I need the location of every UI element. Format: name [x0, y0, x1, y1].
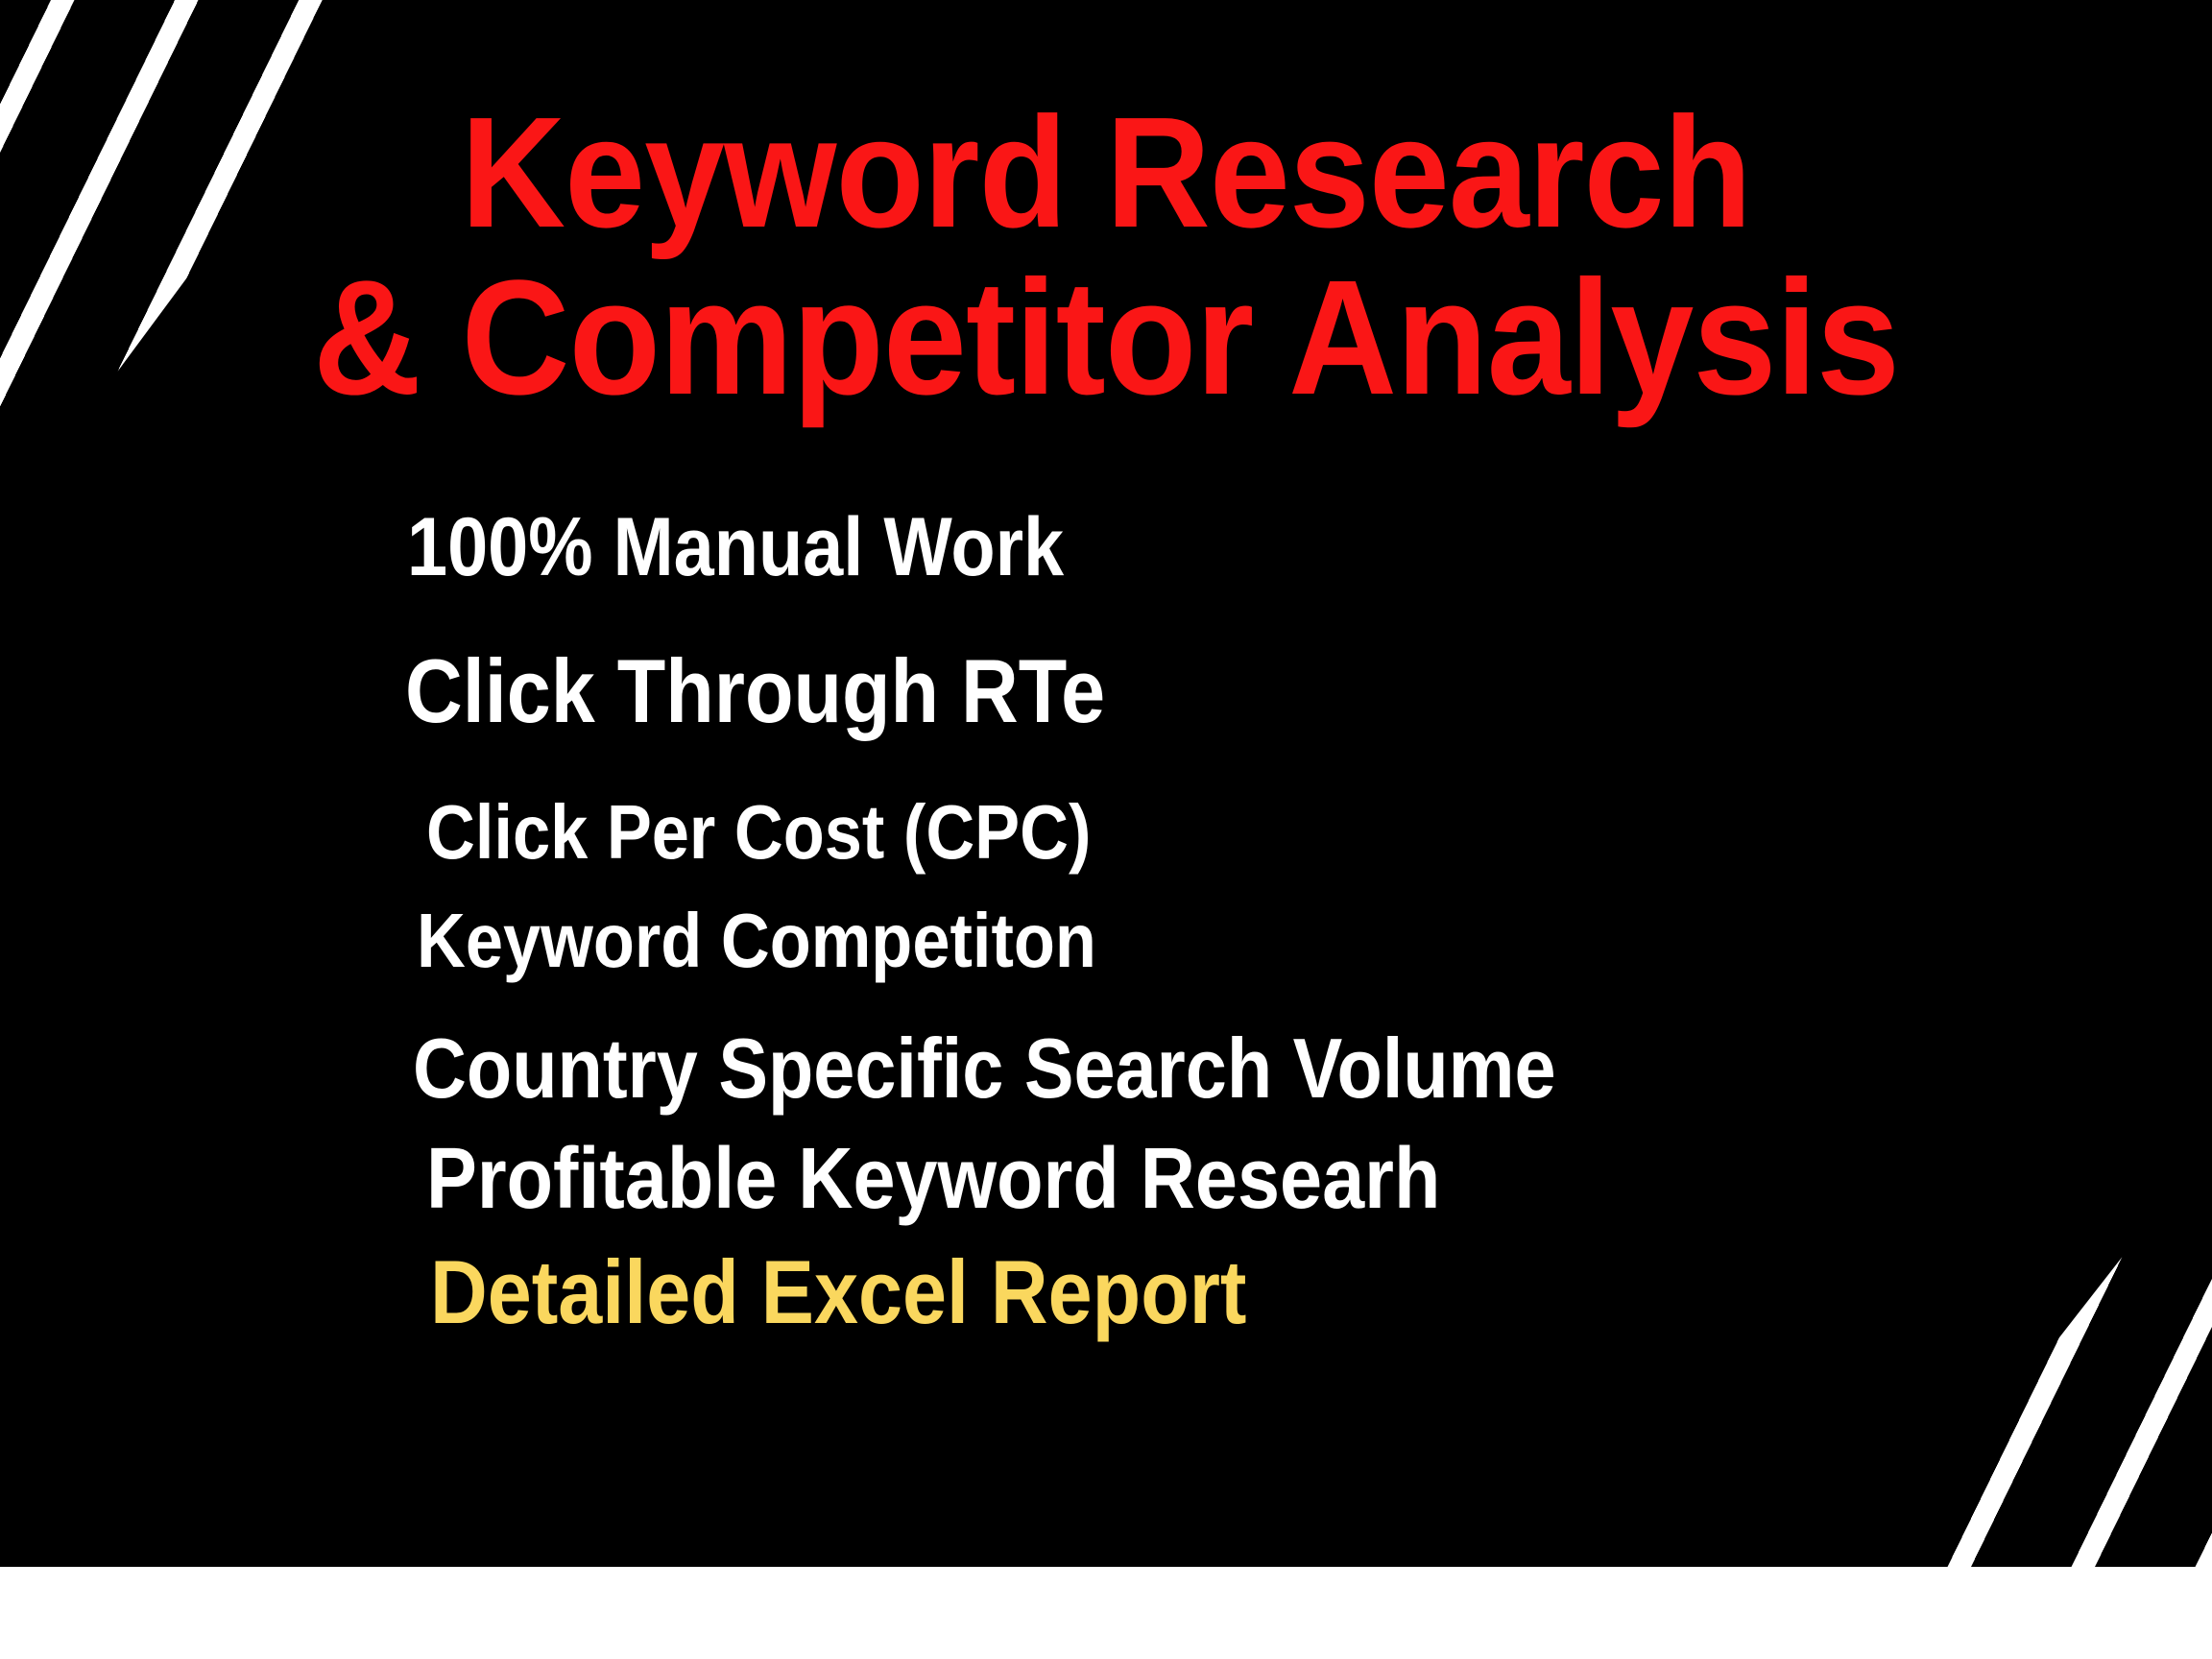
- feature-item-manual-work: 100% Manual Work: [407, 499, 1995, 596]
- promo-poster: Keyword Research & Competitor Analysis 1…: [0, 0, 2212, 1659]
- feature-list: 100% Manual Work Click Through RTe Click…: [0, 499, 2212, 1346]
- feature-item-detailed-excel-report: Detailed Excel Report: [430, 1239, 1998, 1346]
- bottom-white-band: [0, 1567, 2212, 1659]
- title-line-2: & Competitor Analysis: [88, 254, 2124, 422]
- feature-item-keyword-competition: Keyword Competiton: [417, 896, 1997, 986]
- feature-item-profitable-keyword-research: Profitable Keyword Researh: [426, 1128, 1998, 1230]
- feature-item-cost-per-click: Click Per Cost (CPC): [426, 787, 1998, 878]
- feature-item-country-search-volume: Country Specific Search Volume: [413, 1019, 1996, 1118]
- title-line-1: Keyword Research: [88, 92, 2124, 254]
- poster-content: Keyword Research & Competitor Analysis 1…: [0, 0, 2212, 1567]
- page-title: Keyword Research & Competitor Analysis: [0, 92, 2212, 422]
- feature-item-click-through-rate: Click Through RTe: [405, 638, 1995, 745]
